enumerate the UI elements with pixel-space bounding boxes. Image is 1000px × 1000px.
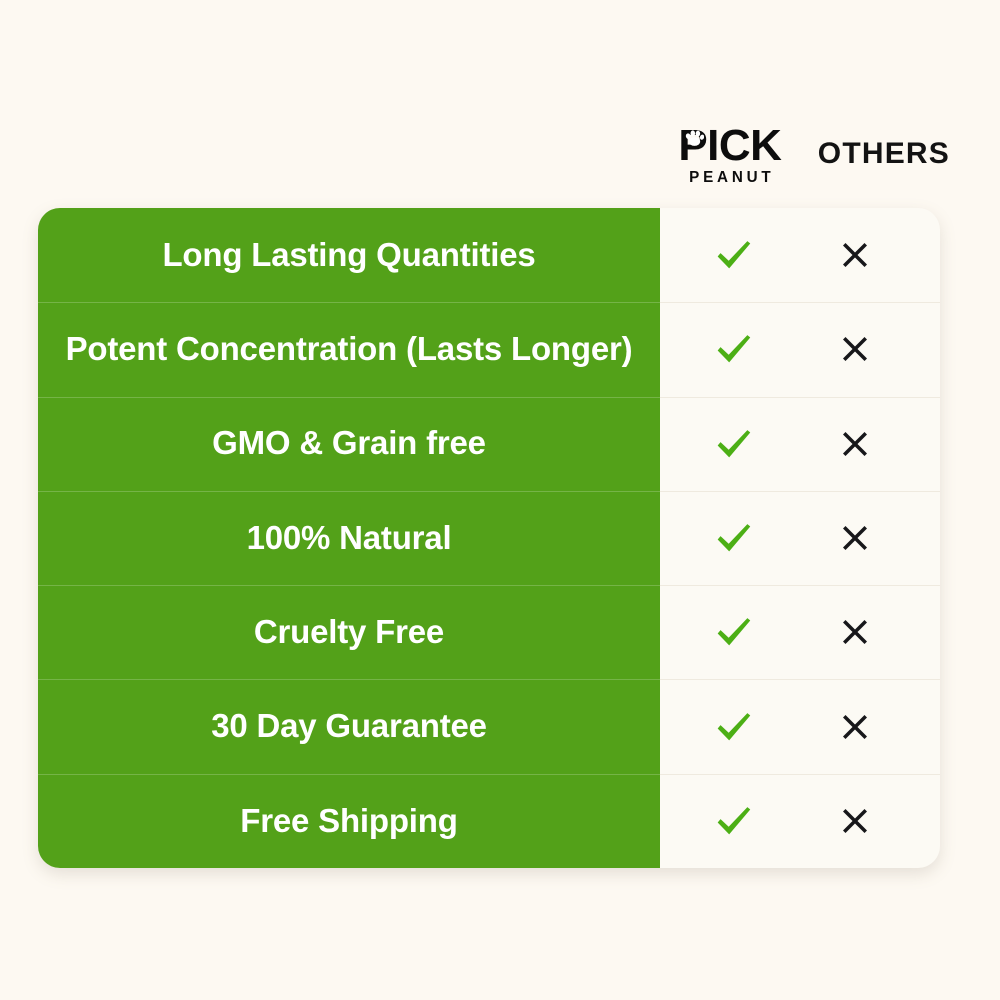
check-icon: [710, 421, 756, 467]
others-cell: [806, 774, 940, 868]
others-cell: [806, 302, 940, 396]
others-cell: [806, 679, 940, 773]
pick-peanut-cell: [660, 302, 806, 396]
comparison-table: Long Lasting Quantities Potent Concentra…: [38, 208, 940, 868]
close-icon: [838, 615, 872, 649]
feature-cell: Cruelty Free: [38, 585, 660, 679]
table-row: Free Shipping: [38, 774, 940, 868]
feature-label: GMO & Grain free: [212, 424, 486, 463]
close-icon: [838, 332, 872, 366]
close-icon: [838, 804, 872, 838]
table-row: GMO & Grain free: [38, 397, 940, 491]
pick-peanut-cell: [660, 585, 806, 679]
brand-wordmark-top-wrap: PICK: [678, 125, 781, 167]
close-icon: [838, 521, 872, 555]
table-row: 100% Natural: [38, 491, 940, 585]
check-icon: [710, 609, 756, 655]
check-icon: [710, 515, 756, 561]
brand-wordmark-bottom: PEANUT: [686, 169, 774, 187]
feature-cell: 100% Natural: [38, 491, 660, 585]
pick-peanut-cell: [660, 491, 806, 585]
feature-cell: Long Lasting Quantities: [38, 208, 660, 302]
others-column-header: OTHERS: [818, 137, 950, 171]
others-cell: [806, 208, 940, 302]
feature-cell: 30 Day Guarantee: [38, 679, 660, 773]
close-icon: [838, 238, 872, 272]
table-row: Potent Concentration (Lasts Longer): [38, 302, 940, 396]
feature-label: Cruelty Free: [254, 613, 444, 652]
others-cell: [806, 491, 940, 585]
pick-peanut-cell: [660, 397, 806, 491]
pick-peanut-cell: [660, 774, 806, 868]
check-icon: [710, 704, 756, 750]
pick-peanut-cell: [660, 208, 806, 302]
feature-cell: Free Shipping: [38, 774, 660, 868]
brand-wordmark-top: PICK: [678, 121, 781, 170]
pick-peanut-logo: PICK PEANUT: [676, 125, 784, 188]
feature-label: Potent Concentration (Lasts Longer): [66, 330, 633, 369]
others-cell: [806, 585, 940, 679]
check-icon: [710, 326, 756, 372]
feature-label: Free Shipping: [240, 802, 457, 841]
table-row: 30 Day Guarantee: [38, 679, 940, 773]
feature-label: Long Lasting Quantities: [162, 236, 535, 275]
feature-label: 30 Day Guarantee: [211, 707, 487, 746]
pick-peanut-cell: [660, 679, 806, 773]
check-icon: [710, 798, 756, 844]
table-row: Long Lasting Quantities: [38, 208, 940, 302]
check-icon: [710, 232, 756, 278]
feature-cell: GMO & Grain free: [38, 397, 660, 491]
table-row: Cruelty Free: [38, 585, 940, 679]
others-cell: [806, 397, 940, 491]
close-icon: [838, 710, 872, 744]
feature-label: 100% Natural: [247, 519, 452, 558]
close-icon: [838, 427, 872, 461]
brand-header: PICK PEANUT OTHERS: [660, 112, 950, 200]
feature-cell: Potent Concentration (Lasts Longer): [38, 302, 660, 396]
brand-wordmark: PICK: [678, 125, 781, 167]
